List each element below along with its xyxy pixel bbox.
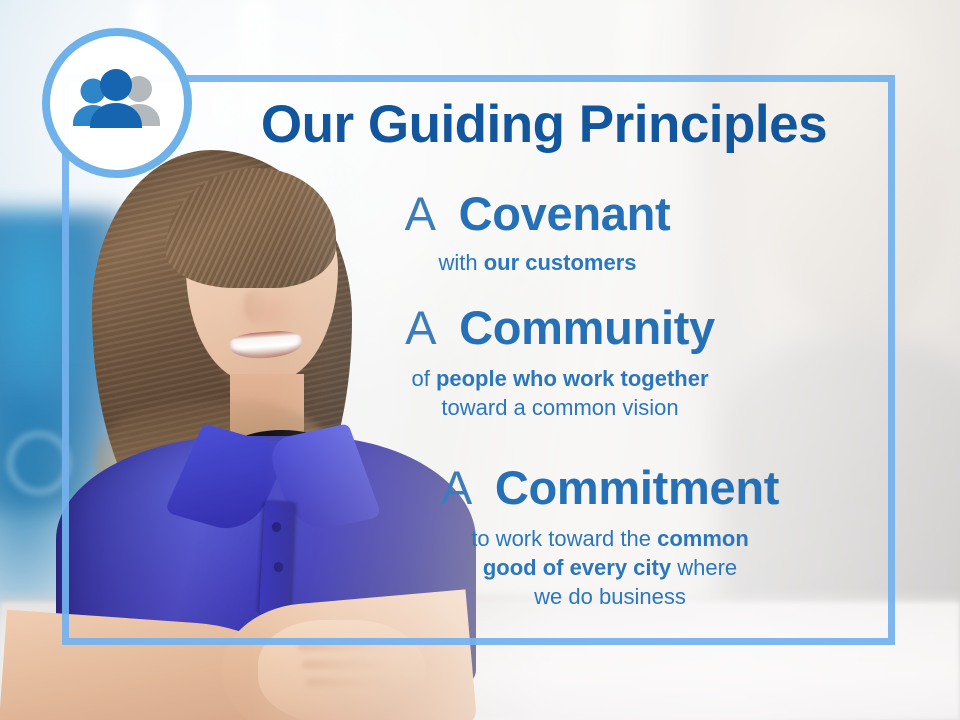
blurred-vw-roundel-icon — [8, 432, 70, 494]
principle-heading: A Community — [230, 302, 890, 354]
subtext-line: toward a common vision — [230, 393, 890, 422]
finger — [298, 642, 394, 651]
principle-article: A — [405, 301, 433, 354]
finger — [302, 660, 394, 669]
principle-article: A — [405, 187, 433, 240]
subtext-line: good of every city where — [290, 553, 930, 582]
subtext-line: of people who work together — [230, 364, 890, 393]
subtext-line: we do business — [290, 582, 930, 611]
subtext-part: of — [411, 366, 435, 391]
subtext-line: to work toward the common — [290, 524, 930, 553]
principle-keyword: Community — [459, 301, 715, 354]
principle-subtext: of people who work together toward a com… — [230, 364, 890, 422]
guiding-principles-banner: FLOW FLOW AUTOMOTIVE Our Guiding — [0, 0, 960, 720]
subtext-part-bold: good of every city — [483, 555, 671, 580]
finger — [306, 678, 390, 687]
principle-heading: A Covenant — [215, 188, 860, 240]
polo-button — [274, 562, 283, 571]
principle-keyword: Commitment — [495, 461, 779, 514]
subtext-part-bold: our customers — [484, 250, 637, 275]
clasped-hands — [258, 620, 426, 720]
subtext-part-bold: people who work together — [436, 366, 709, 391]
polo-button — [272, 522, 281, 531]
subtext-part-bold: common — [657, 526, 749, 551]
people-group-icon — [69, 68, 165, 138]
blurred-customer-hair — [760, 10, 950, 340]
principle-subtext: to work toward the common good of every … — [290, 524, 930, 611]
people-group-badge — [42, 28, 192, 178]
principle-subtext: with our customers — [215, 248, 860, 277]
principle-article: A — [441, 461, 469, 514]
principle-covenant: A Covenant with our customers — [215, 188, 860, 277]
principle-heading: A Commitment — [290, 462, 930, 514]
page-title: Our Guiding Principles — [214, 96, 874, 154]
subtext-part: with — [438, 250, 483, 275]
principle-community: A Community of people who work together … — [230, 302, 890, 422]
subtext-part: where — [671, 555, 737, 580]
subtext-part: to work toward the — [471, 526, 657, 551]
principle-commitment: A Commitment to work toward the common g… — [290, 462, 930, 611]
principle-keyword: Covenant — [459, 187, 671, 240]
